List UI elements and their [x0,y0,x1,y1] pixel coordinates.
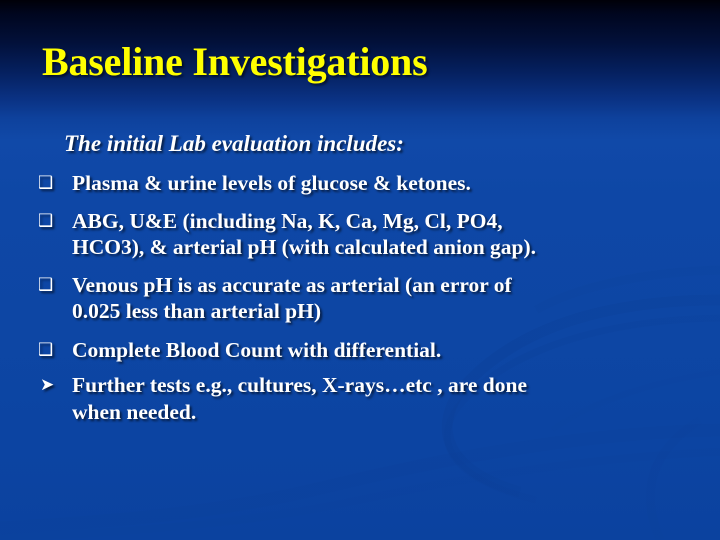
presentation-slide: Baseline Investigations The initial Lab … [0,0,720,540]
square-bullet-icon: ❑ [38,208,68,235]
square-bullet-icon: ❑ [38,272,68,299]
slide-content: Baseline Investigations The initial Lab … [0,0,720,540]
list-item-line: Complete Blood Count with differential. [72,337,694,364]
list-item: ❑ ABG, U&E (including Na, K, Ca, Mg, Cl,… [38,208,694,261]
slide-title: Baseline Investigations [42,42,682,82]
square-bullet-icon: ❑ [38,170,68,197]
slide-subtitle: The initial Lab evaluation includes: [64,131,404,157]
list-item-line: when needed. [72,399,694,426]
list-item: ❑ Venous pH is as accurate as arterial (… [38,272,694,325]
list-item-line: Further tests e.g., cultures, X-rays…etc… [72,372,694,399]
list-item-line: 0.025 less than arterial pH) [72,298,694,325]
bullet-list: ❑ Plasma & urine levels of glucose & ket… [38,170,694,427]
arrow-bullet-icon: ➤ [40,372,70,399]
list-item-line: Plasma & urine levels of glucose & keton… [72,170,694,197]
list-item-line: ABG, U&E (including Na, K, Ca, Mg, Cl, P… [72,208,694,235]
list-item: ➤ Further tests e.g., cultures, X-rays…e… [38,372,694,425]
list-item-line: Venous pH is as accurate as arterial (an… [72,272,694,299]
list-item: ❑ Complete Blood Count with differential… [38,337,694,364]
square-bullet-icon: ❑ [38,337,68,364]
list-item: ❑ Plasma & urine levels of glucose & ket… [38,170,694,197]
list-item-line: HCO3), & arterial pH (with calculated an… [72,234,694,261]
